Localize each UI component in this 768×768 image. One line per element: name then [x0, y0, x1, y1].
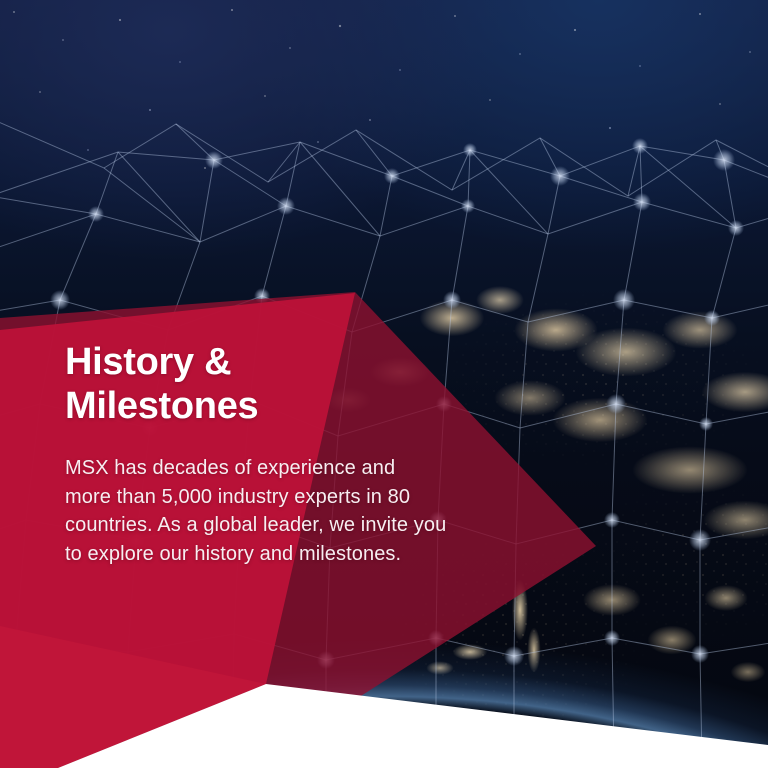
page-title-line-2: Milestones: [65, 384, 505, 428]
hero-copy: History & Milestones MSX has decades of …: [65, 340, 505, 568]
hero-description-line-2: more than 5,000 industry experts in 80: [65, 483, 505, 512]
hero-description: MSX has decades of experience and more t…: [65, 454, 505, 568]
page-title-line-1: History &: [65, 341, 231, 383]
hero-description-line-4: to explore our history and milestones.: [65, 540, 505, 569]
hero-description-line-1: MSX has decades of experience and: [65, 454, 505, 483]
hero-description-line-3: countries. As a global leader, we invite…: [65, 511, 505, 540]
hero-banner: History & Milestones MSX has decades of …: [0, 0, 768, 768]
page-title: History & Milestones: [65, 340, 505, 428]
